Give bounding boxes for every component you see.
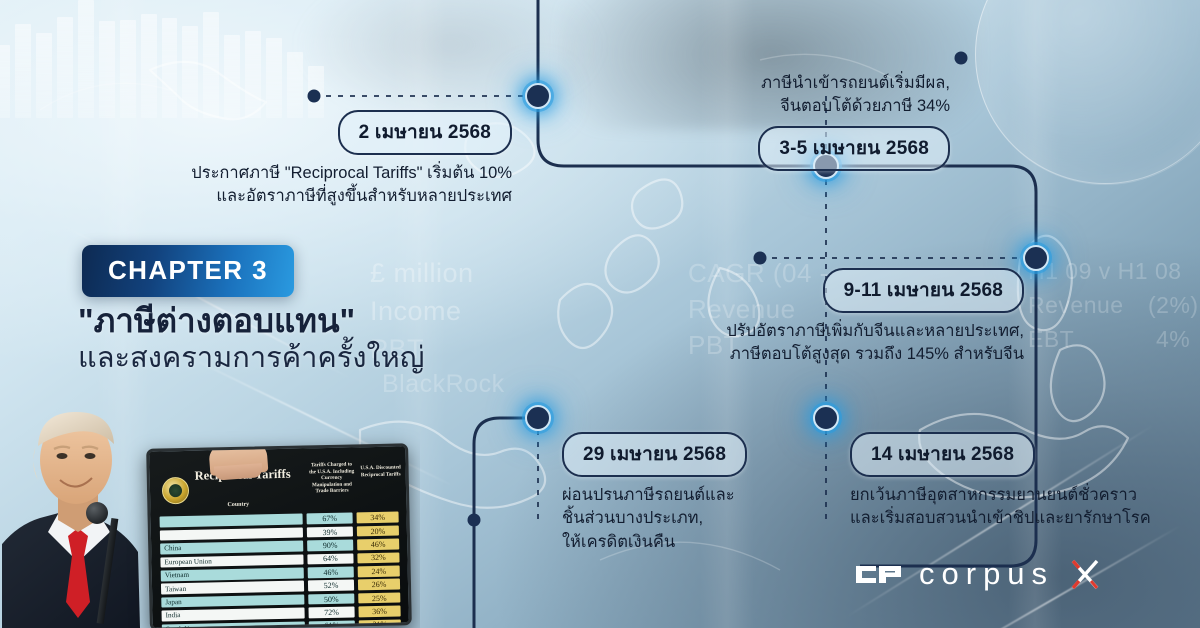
timeline-dot-apr-2: [308, 90, 321, 103]
board-cell-charged: 90%: [307, 540, 353, 551]
cp-monogram-icon: [855, 563, 903, 586]
timeline-node-apr-9-11[interactable]: [1023, 245, 1049, 271]
board-cell-discounted: 26%: [358, 579, 400, 590]
board-cell-charged: 67%: [307, 513, 353, 524]
hand: [208, 443, 268, 476]
board-cell-charged: 61%: [309, 620, 355, 628]
board-cell-charged: 72%: [308, 607, 354, 618]
board-cell-discounted: 31%: [359, 619, 401, 628]
speaker-photo: [2, 402, 154, 628]
event-card-apr-29: 29 เมษายน 2568 ผ่อนปรนภาษีรถยนต์และ ชิ้น…: [562, 432, 812, 554]
chapter-badge: CHAPTER 3: [82, 245, 294, 297]
board-cell-charged: 52%: [308, 580, 354, 591]
event-card-apr-9-11: 9-11 เมษายน 2568 ปรับอัตราภาษีเพิ่มกับจี…: [660, 268, 1024, 367]
event-description-apr-9-11: ปรับอัตราภาษีเพิ่มกับจีนและหลายประเทศ, ภ…: [660, 320, 1024, 367]
board-cell-discounted: 34%: [357, 512, 399, 523]
timeline-node-apr-29[interactable]: [525, 405, 551, 431]
board-cell-charged: 46%: [308, 566, 354, 577]
page-subtitle: และสงครามการค้าครั้งใหญ่: [78, 340, 548, 378]
board-cell-discounted: 25%: [358, 592, 400, 603]
board-cell-discounted: 36%: [358, 606, 400, 617]
board-cell-charged: 50%: [308, 593, 354, 604]
timeline-node-apr-2[interactable]: [525, 83, 551, 109]
event-date-pill-apr-3-5[interactable]: 3-5 เมษายน 2568: [758, 126, 950, 171]
reciprocal-tariffs-board: Reciprocal Tariffs Tariffs Charged to th…: [146, 443, 412, 628]
event-date-pill-apr-2[interactable]: 2 เมษายน 2568: [338, 110, 512, 155]
microphone-head: [86, 502, 108, 524]
photo-composite: Reciprocal Tariffs Tariffs Charged to th…: [0, 396, 420, 628]
board-cell-discounted: 24%: [358, 565, 400, 576]
timeline-dot-apr-9-11: [754, 252, 767, 265]
logo-wordmark: corpus: [919, 556, 1054, 592]
event-card-apr-2: 2 เมษายน 2568 ประกาศภาษี "Reciprocal Tar…: [140, 110, 512, 209]
event-date-pill-apr-29[interactable]: 29 เมษายน 2568: [562, 432, 747, 477]
event-description-apr-2: ประกาศภาษี "Reciprocal Tariffs" เริ่มต้น…: [140, 162, 512, 209]
event-description-apr-14: ยกเว้นภาษีอุตสาหกรรมยานยนต์ชั่วคราว และเ…: [850, 484, 1190, 531]
board-cell-charged: 39%: [307, 526, 353, 537]
board-cell-discounted: 20%: [357, 525, 399, 536]
logo-x-icon: [1070, 559, 1100, 590]
event-card-apr-3-5: ภาษีนำเข้ารถยนต์เริ่มมีผล, จีนตอบโต้ด้วย…: [610, 72, 950, 171]
infographic-canvas: £ million Income PBT BlackRock CAGR (04 …: [0, 0, 1200, 628]
event-description-apr-29: ผ่อนปรนภาษีรถยนต์และ ชิ้นส่วนบางประเภท, …: [562, 484, 812, 554]
board-cell-country: South Korea: [162, 621, 305, 628]
board-column-discounted: U.S.A. Discounted Reciprocal Tariffs: [358, 464, 404, 478]
event-date-pill-apr-14[interactable]: 14 เมษายน 2568: [850, 432, 1035, 477]
board-rows: 67%34%39%20%China90%46%European Union64%…: [160, 510, 402, 628]
board-cell-charged: 64%: [307, 553, 353, 564]
timeline-node-apr-14[interactable]: [813, 405, 839, 431]
timeline-dot-apr-3-5: [955, 52, 968, 65]
board-cell-discounted: 32%: [357, 552, 399, 563]
board-column-country: Country: [208, 501, 268, 510]
board-column-charged: Tariffs Charged to the U.S.A. Including …: [307, 461, 356, 494]
presidential-seal-icon: [162, 477, 190, 505]
corpusx-logo[interactable]: corpus: [855, 556, 1100, 592]
event-card-apr-14: 14 เมษายน 2568 ยกเว้นภาษีอุตสาหกรรมยานยน…: [850, 432, 1190, 531]
event-date-pill-apr-9-11[interactable]: 9-11 เมษายน 2568: [823, 268, 1024, 313]
timeline-dot-apr-29: [468, 514, 481, 527]
page-title: "ภาษีต่างตอบแทน": [78, 300, 528, 342]
board-cell-discounted: 46%: [357, 539, 399, 550]
event-description-apr-3-5: ภาษีนำเข้ารถยนต์เริ่มมีผล, จีนตอบโต้ด้วย…: [610, 72, 950, 119]
